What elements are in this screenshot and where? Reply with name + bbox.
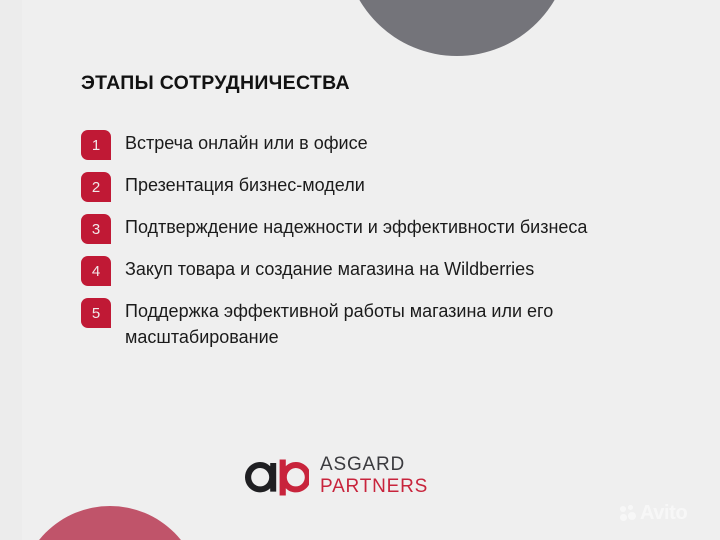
step-label: Закуп товара и создание магазина на Wild… — [125, 256, 591, 282]
list-item: 1 Встреча онлайн или в офисе — [81, 129, 591, 160]
avito-watermark: Avito — [620, 502, 687, 525]
slide-canvas: ЭТАПЫ СОТРУДНИЧЕСТВА 1 Встреча онлайн ил… — [0, 0, 720, 540]
step-number-badge: 1 — [81, 130, 111, 160]
list-item: 2 Презентация бизнес-модели — [81, 171, 591, 202]
step-label: Подтверждение надежности и эффективности… — [125, 214, 591, 240]
step-label: Встреча онлайн или в офисе — [125, 130, 591, 156]
step-number-badge: 2 — [81, 172, 111, 202]
step-number-badge: 4 — [81, 256, 111, 286]
step-label: Поддержка эффективной работы магазина ил… — [125, 298, 591, 350]
page-title: ЭТАПЫ СОТРУДНИЧЕСТВА — [81, 72, 350, 95]
list-item: 4 Закуп товара и создание магазина на Wi… — [81, 255, 591, 286]
decorative-circle-top — [344, 0, 570, 56]
steps-list: 1 Встреча онлайн или в офисе 2 Презентац… — [81, 129, 591, 361]
logo-wordmark: ASGARD PARTNERS — [320, 455, 428, 496]
logo-line-asgard: ASGARD — [320, 455, 428, 474]
step-number-badge: 3 — [81, 214, 111, 244]
logo-line-partners: PARTNERS — [320, 477, 428, 496]
ao-monogram-icon — [243, 456, 309, 496]
list-item: 5 Поддержка эффективной работы магазина … — [81, 297, 591, 350]
decorative-circle-bottom — [19, 506, 201, 540]
step-number-badge: 5 — [81, 298, 111, 328]
brand-logo: ASGARD PARTNERS — [243, 455, 428, 496]
avito-dots-icon — [620, 505, 637, 522]
avito-watermark-label: Avito — [640, 502, 687, 525]
step-label: Презентация бизнес-модели — [125, 172, 591, 198]
list-item: 3 Подтверждение надежности и эффективнос… — [81, 213, 591, 244]
